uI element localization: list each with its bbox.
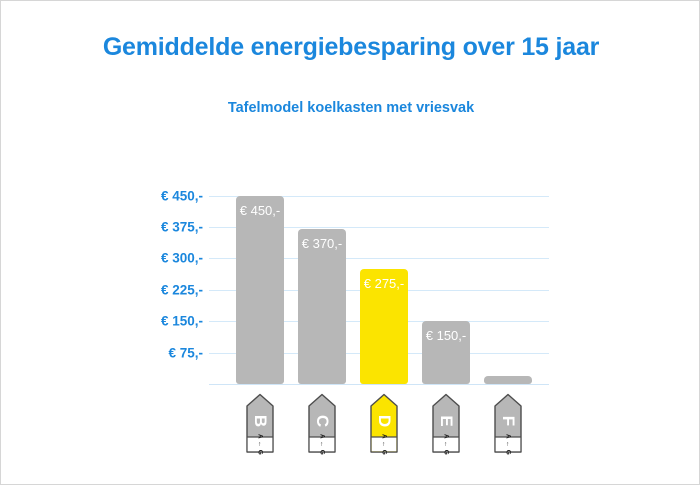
y-axis-tick-label: € 450,-	[123, 188, 203, 203]
energy-badge-scale: A ← G	[439, 431, 454, 459]
bar-e: € 150,-	[422, 321, 470, 384]
bar-value-label: € 150,-	[422, 328, 470, 343]
bar-d: € 275,-	[360, 269, 408, 384]
bar-value-label: € 275,-	[360, 276, 408, 291]
energy-label-badges: BA ← GCA ← GDA ← GEA ← GFA ← G	[209, 393, 549, 455]
energy-badge-scale: A ← G	[501, 431, 516, 459]
energy-badge-scale: A ← G	[315, 431, 330, 459]
y-axis-tick-label: € 150,-	[123, 314, 203, 329]
chart-title: Gemiddelde energiebesparing over 15 jaar	[1, 33, 700, 62]
energy-badge-c[interactable]: CA ← G	[308, 393, 336, 453]
bar-f	[484, 376, 532, 384]
energy-badge-e[interactable]: EA ← G	[432, 393, 460, 453]
y-axis-tick-label: € 300,-	[123, 251, 203, 266]
y-axis-tick-label: € 75,-	[123, 345, 203, 360]
bar-series: € 450,-€ 370,-€ 275,-€ 150,-	[209, 179, 549, 384]
chart-page: Gemiddelde energiebesparing over 15 jaar…	[0, 0, 700, 485]
bar-value-label: € 370,-	[298, 236, 346, 251]
energy-badge-d[interactable]: DA ← G	[370, 393, 398, 453]
bar-b: € 450,-	[236, 196, 284, 384]
y-axis-labels: € 75,-€ 150,-€ 225,-€ 300,-€ 375,-€ 450,…	[119, 179, 203, 385]
bar-value-label: € 450,-	[236, 203, 284, 218]
y-axis-tick-label: € 375,-	[123, 220, 203, 235]
energy-badge-b[interactable]: BA ← G	[246, 393, 274, 453]
x-axis-baseline	[209, 384, 549, 385]
bar-c: € 370,-	[298, 229, 346, 384]
y-axis-tick-label: € 225,-	[123, 282, 203, 297]
energy-badge-scale: A ← G	[253, 431, 268, 459]
chart-subtitle: Tafelmodel koelkasten met vriesvak	[1, 100, 700, 116]
energy-badge-f[interactable]: FA ← G	[494, 393, 522, 453]
energy-badge-scale: A ← G	[377, 431, 392, 459]
